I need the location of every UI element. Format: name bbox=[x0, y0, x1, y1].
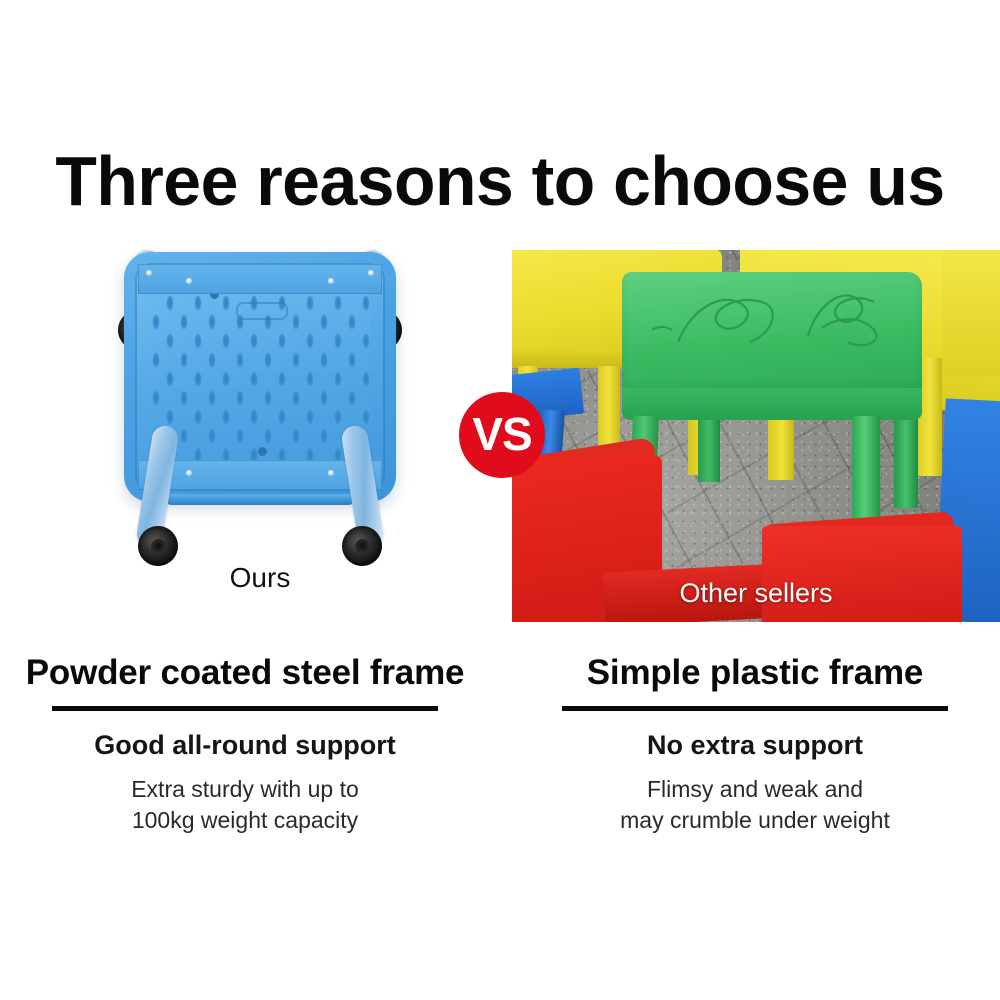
table-cross-brace bbox=[166, 494, 354, 505]
page-title: Three reasons to choose us bbox=[15, 143, 985, 219]
right-divider-rule bbox=[562, 706, 948, 711]
left-body-line-2: 100kg weight capacity bbox=[0, 805, 490, 836]
right-body-line-2: may crumble under weight bbox=[510, 805, 1000, 836]
blue-table-illustration bbox=[110, 248, 410, 548]
left-feature-body: Extra sturdy with up to 100kg weight cap… bbox=[0, 774, 490, 836]
left-body-line-1: Extra sturdy with up to bbox=[0, 774, 490, 805]
other-sellers-photo: Other sellers bbox=[512, 250, 1000, 622]
yellow-chair-back bbox=[942, 250, 1000, 376]
left-divider-rule bbox=[52, 706, 438, 711]
table-front-right-foot bbox=[342, 526, 382, 566]
vs-label: VS bbox=[472, 411, 531, 457]
screw bbox=[328, 470, 334, 476]
table-panel bbox=[150, 276, 370, 478]
table-vent-hole-bottom bbox=[258, 447, 267, 456]
right-feature-title: Simple plastic frame bbox=[510, 652, 1000, 694]
table-slot-handle bbox=[236, 302, 288, 320]
screw bbox=[186, 470, 192, 476]
promo-graphic: Three reasons to choose us bbox=[0, 0, 1000, 1000]
screw bbox=[146, 270, 152, 276]
ours-caption: Ours bbox=[0, 562, 520, 594]
right-feature-body: Flimsy and weak and may crumble under we… bbox=[510, 774, 1000, 836]
comparison-column-right: Simple plastic frame No extra support Fl… bbox=[510, 652, 1000, 836]
table-front-left-foot bbox=[138, 526, 178, 566]
right-body-line-1: Flimsy and weak and bbox=[510, 774, 1000, 805]
screw bbox=[186, 278, 192, 284]
left-feature-title: Powder coated steel frame bbox=[0, 652, 490, 694]
crayon-scribble-marks bbox=[622, 272, 922, 394]
ours-product-image bbox=[60, 248, 460, 558]
screw bbox=[368, 270, 374, 276]
right-feature-subtitle: No extra support bbox=[510, 729, 1000, 762]
screw bbox=[328, 278, 334, 284]
comparison-column-left: Powder coated steel frame Good all-round… bbox=[0, 652, 490, 836]
green-table-top bbox=[622, 272, 922, 394]
table-top-mount-plate bbox=[138, 264, 382, 294]
vs-badge: VS bbox=[459, 392, 545, 478]
left-feature-subtitle: Good all-round support bbox=[0, 729, 490, 762]
other-sellers-caption: Other sellers bbox=[512, 578, 1000, 609]
